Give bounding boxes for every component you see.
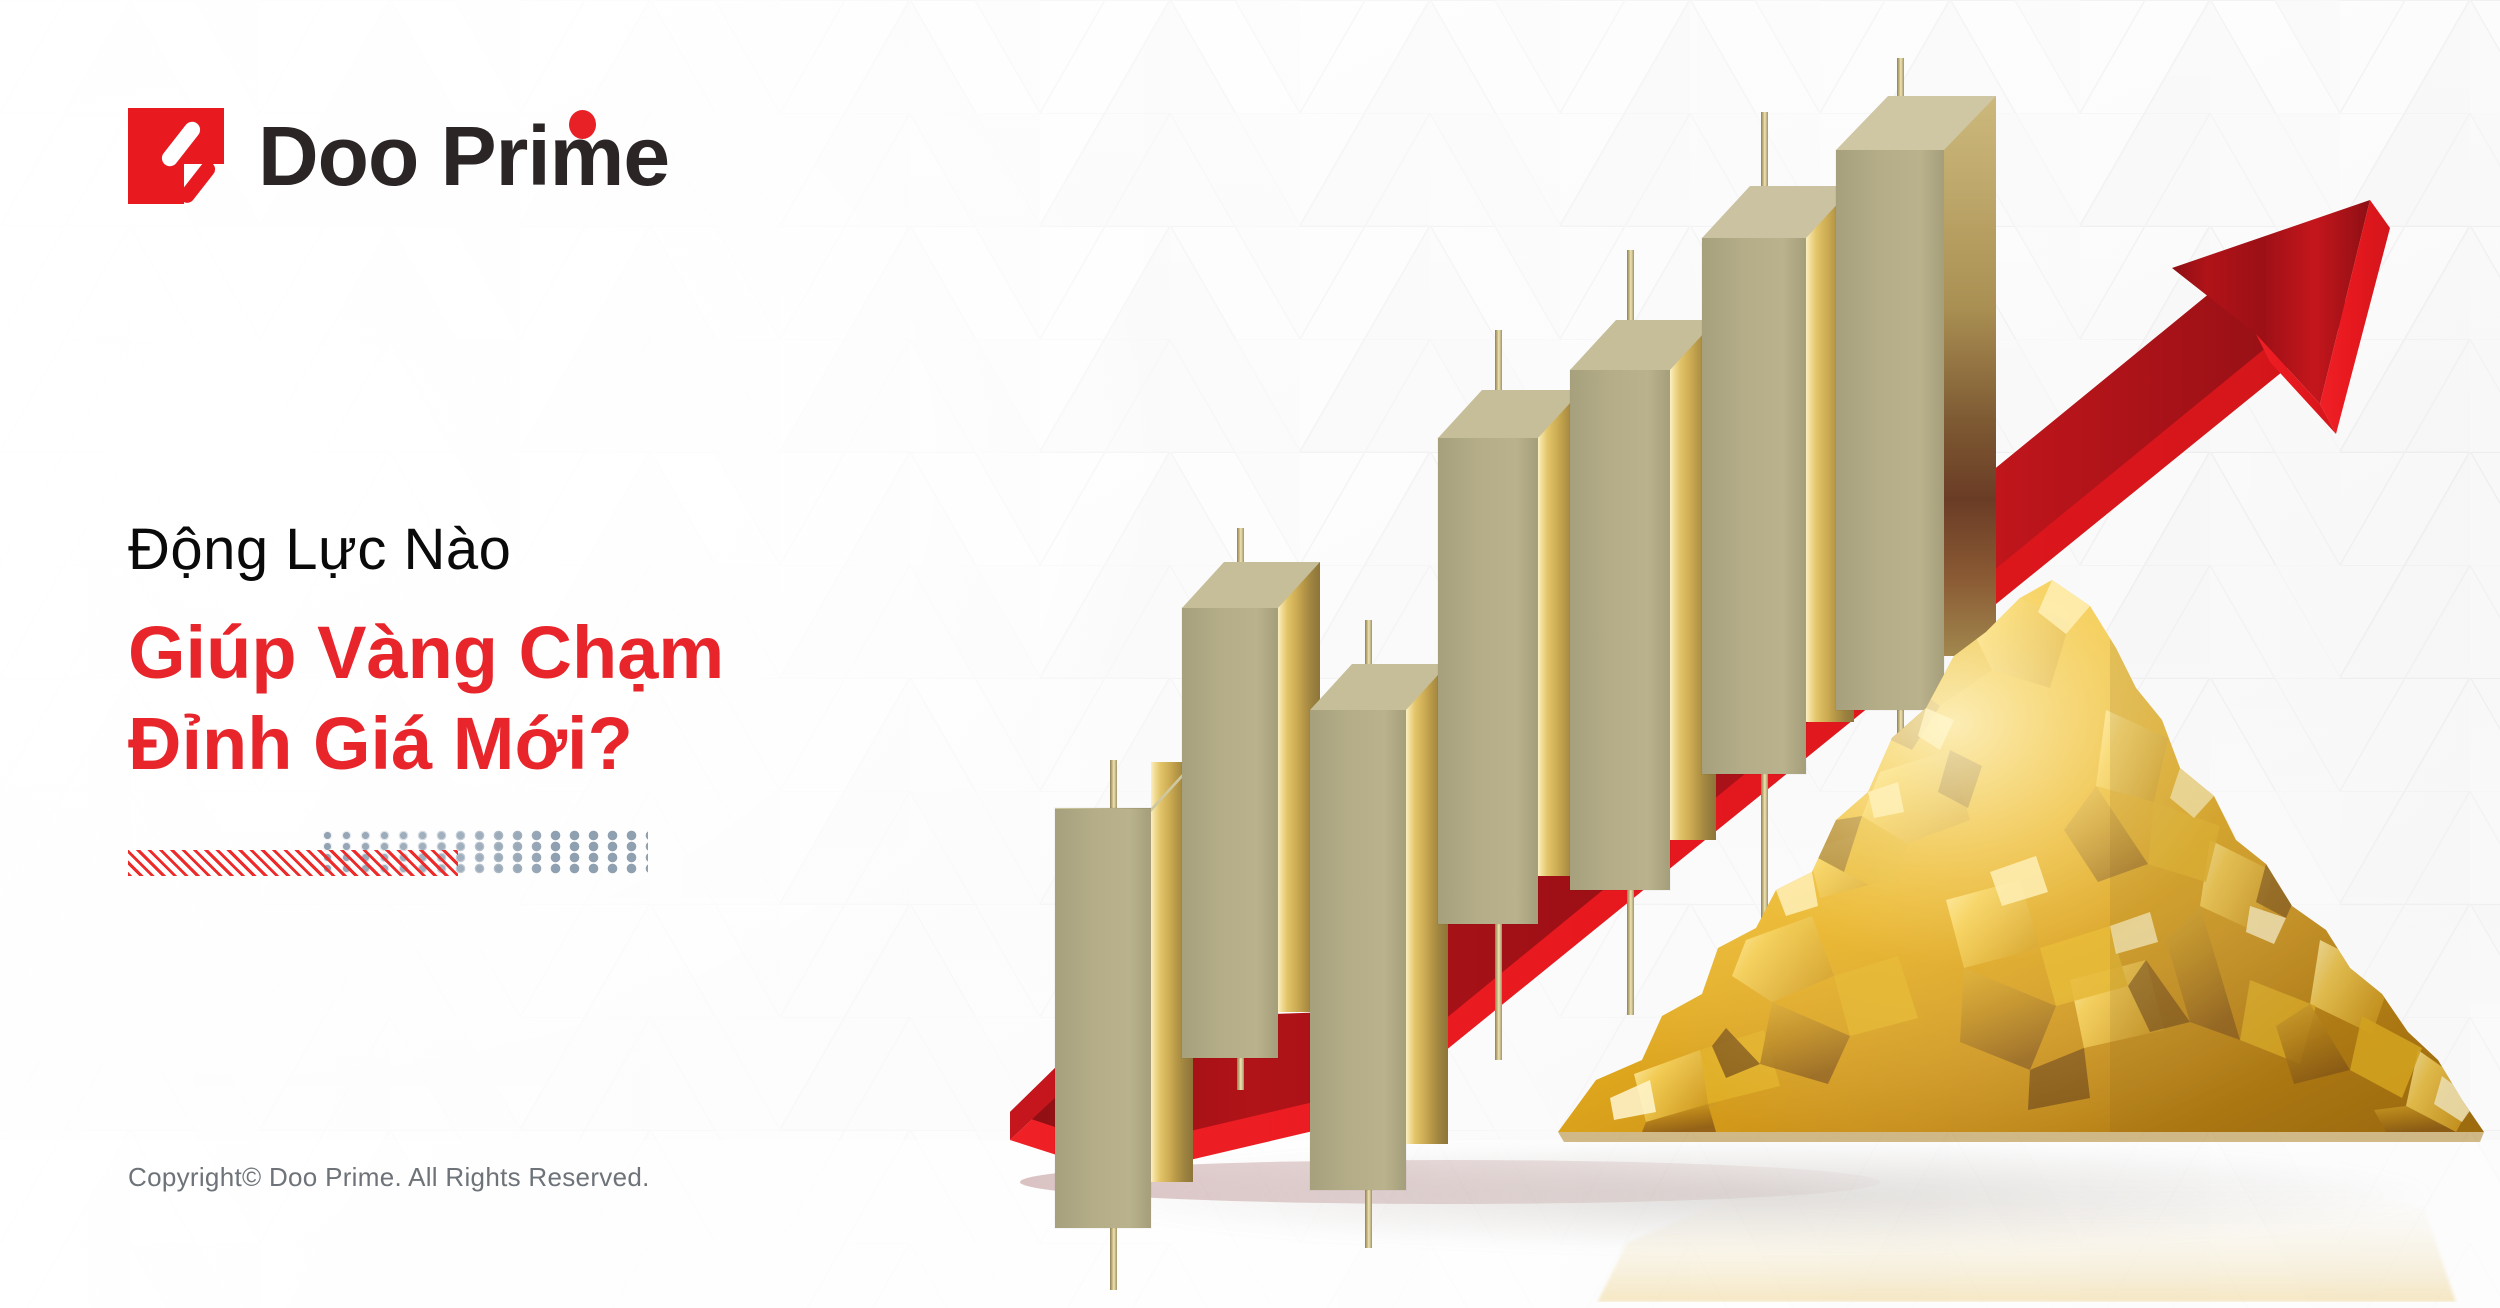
candlestick-3 bbox=[1310, 0, 1406, 1308]
headline-line-3: Đỉnh Giá Mới? bbox=[128, 699, 724, 789]
brand-logo[interactable]: Doo Prime bbox=[128, 108, 669, 204]
doo-prime-logo-mark-icon bbox=[128, 108, 224, 204]
candle-top-face bbox=[1182, 562, 1320, 612]
doo-prime-banner: Doo Prime Động Lực Nào Giúp Vàng Chạm Đỉ… bbox=[0, 0, 2500, 1308]
artwork-stage bbox=[1030, 0, 2500, 1308]
candlestick-2 bbox=[1182, 0, 1278, 1308]
decorative-divider bbox=[128, 828, 648, 880]
candle-body bbox=[1310, 710, 1406, 1190]
candle-body bbox=[1182, 608, 1278, 1058]
candle-top-face bbox=[1836, 96, 1996, 154]
candle-top-face bbox=[1310, 664, 1448, 714]
candlestick-4 bbox=[1438, 0, 1538, 1308]
copyright-text: Copyright© Doo Prime. All Rights Reserve… bbox=[128, 1162, 650, 1193]
gold-nugget-icon bbox=[1550, 420, 2500, 1220]
headline: Động Lực Nào Giúp Vàng Chạm Đỉnh Giá Mới… bbox=[128, 516, 724, 789]
candle-top-face bbox=[1702, 186, 1854, 242]
gold-nugget-reflection bbox=[1590, 1132, 2480, 1302]
headline-line-2: Giúp Vàng Chạm bbox=[128, 608, 724, 698]
candle-body bbox=[1438, 438, 1538, 924]
headline-line-1: Động Lực Nào bbox=[128, 516, 724, 584]
brand-wordmark-text: Doo Prime bbox=[258, 109, 669, 203]
decorative-red-hatch bbox=[128, 850, 458, 876]
candle-top-face bbox=[1570, 320, 1716, 374]
gold-nugget-wrap bbox=[1550, 420, 2500, 1220]
content-column: Doo Prime Động Lực Nào Giúp Vàng Chạm Đỉ… bbox=[0, 0, 1100, 1308]
brand-wordmark: Doo Prime bbox=[258, 114, 669, 198]
logo-red-dot-icon bbox=[569, 110, 596, 139]
